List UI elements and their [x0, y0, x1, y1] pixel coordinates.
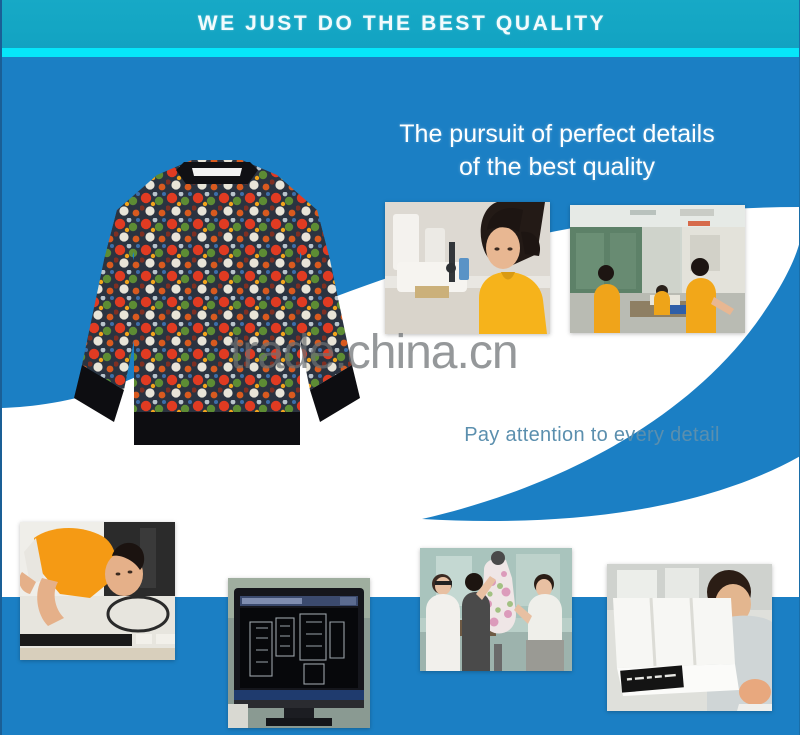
garment-illustration — [62, 140, 372, 480]
headline: The pursuit of perfect details of the be… — [332, 118, 782, 184]
photo-sewing-operator — [385, 202, 550, 334]
headline-line-1: The pursuit of perfect details — [399, 120, 714, 148]
page-title: WE JUST DO THE BEST QUALITY — [198, 12, 607, 36]
photo-garment — [62, 140, 372, 480]
header-accent-stripe — [2, 48, 800, 57]
photo-pressing-worker — [20, 522, 175, 660]
design-draping-illustration — [420, 548, 572, 671]
factory-floor-illustration — [570, 205, 745, 333]
photo-factory-floor — [570, 205, 745, 333]
header-band: WE JUST DO THE BEST QUALITY — [2, 0, 800, 48]
cad-monitor-illustration — [228, 578, 370, 728]
headline-line-2: of the best quality — [332, 151, 782, 184]
photo-cad-monitor — [228, 578, 370, 728]
promo-banner: WE JUST DO THE BEST QUALITY The pursuit … — [0, 0, 800, 735]
pressing-worker-illustration — [20, 522, 175, 660]
fabric-inspection-illustration — [607, 564, 772, 711]
subtitle: Pay attention to every detail — [402, 424, 782, 447]
sewing-operator-illustration — [385, 202, 550, 334]
photo-fabric-inspection — [607, 564, 772, 711]
photo-design-draping — [420, 548, 572, 671]
